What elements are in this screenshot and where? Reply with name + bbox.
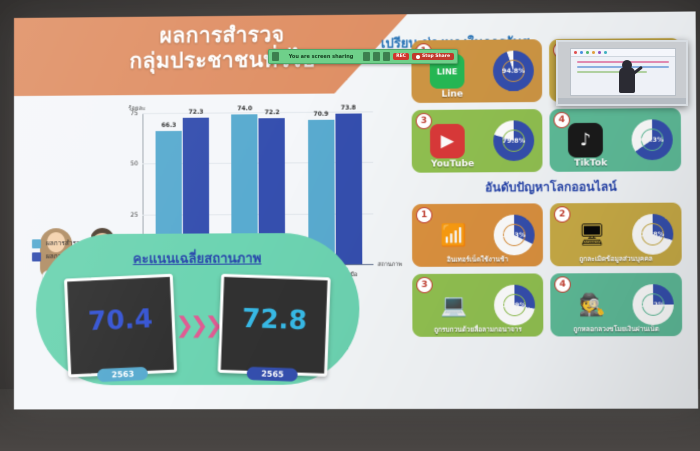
youtube-icon: ▶	[430, 124, 465, 159]
average-score-compare: 70.4 2563 ❯❯❯ 72.8 2565	[66, 277, 329, 373]
bar-value-label: 70.9	[314, 111, 329, 118]
donut-percent-label: 79.8%	[502, 137, 525, 145]
donut-percent-label: 65.3%	[641, 136, 664, 144]
people-illustration	[38, 113, 124, 226]
share-status-text: You are screen sharing	[282, 54, 360, 60]
donut-chart: 29.8%	[632, 214, 673, 255]
screen-share-toolbar[interactable]: You are screen sharing REC Stop Share	[268, 49, 458, 64]
channel-name: YouTube	[412, 159, 494, 170]
screen-root: ผลการสำรวจ กลุ่มประชาชนทั่วไป เปรียบ ช่อ…	[0, 0, 700, 451]
stop-share-label: Stop Share	[422, 54, 450, 59]
donut-chart: 27.9%	[494, 285, 535, 326]
rank-badge: 3	[416, 113, 432, 129]
donut-percent-label: 29.8%	[641, 230, 664, 238]
pip-browser-bar	[571, 49, 675, 57]
x-axis-unit: สถานภาพ	[378, 261, 402, 269]
bar-value-label: 74.0	[237, 105, 252, 112]
rank-badge: 4	[554, 112, 570, 128]
average-score-title: คะแนนเฉลี่ยสถานภาพ	[36, 247, 359, 270]
issue-label: ถูกหลอกลวงขโมยเงินผ่านเน็ต	[553, 324, 681, 335]
stop-share-button[interactable]: Stop Share	[412, 53, 454, 60]
score-panel-after: 72.8 2565	[217, 274, 330, 377]
mic-icon[interactable]	[363, 52, 370, 61]
issue-card-4[interactable]: 4🕵ถูกหลอกลวงขโมยเงินผ่านเน็ต25.2%	[550, 273, 682, 337]
donut-chart: 79.8%	[493, 120, 534, 161]
score-before-value: 70.4	[68, 303, 172, 338]
average-score-panel: คะแนนเฉลี่ยสถานภาพ 70.4 2563 ❯❯❯ 72.8 25…	[36, 233, 360, 386]
score-after-value: 72.8	[222, 303, 327, 337]
camera-icon[interactable]	[373, 52, 380, 61]
gridlines	[126, 103, 399, 105]
channel-card-tiktok[interactable]: 4♪TikTok65.3%	[549, 108, 681, 172]
rank-badge: 2	[554, 206, 570, 222]
donut-percent-label: 25.2%	[642, 300, 665, 308]
screen-icon	[272, 52, 279, 61]
bar-value-label: 66.3	[161, 121, 176, 128]
pip-projection-screen	[570, 48, 676, 96]
score-before-year: 2563	[97, 367, 148, 382]
donut-chart: 65.3%	[631, 119, 672, 160]
channel-name: TikTok	[550, 158, 632, 169]
issue-label: ถูกรบกวนด้วยสื่อลามกอนาจาร	[414, 324, 541, 335]
bar-value-label: 73.8	[341, 105, 356, 112]
issue-card-grid: 1📶อินเทอร์เน็ตใช้งานช้า32.3%2🖥ถูกละเมิดข…	[412, 203, 692, 337]
left-column: ร้อยละ 0255075 66.372.374.072.270.973.8 …	[22, 95, 407, 401]
stop-icon	[416, 55, 420, 59]
issue-card-2[interactable]: 2🖥ถูกละเมิดข้อมูลส่วนบุคคล29.8%	[550, 203, 682, 267]
wifi-signal-icon: 📶	[432, 218, 475, 253]
rank-badge: 4	[554, 276, 570, 292]
donut-percent-label: 94.8%	[502, 67, 525, 75]
donut-percent-label: 32.3%	[503, 231, 526, 239]
data-privacy-icon: 🖥	[570, 217, 613, 252]
y-tick-label: 75	[130, 110, 138, 117]
laptop-block-icon: 💻	[433, 288, 476, 323]
score-after-year: 2565	[246, 367, 297, 382]
presenter-webcam-overlay[interactable]	[556, 40, 688, 106]
title-line-1: ผลการสำรวจ	[56, 21, 389, 49]
donut-chart: 94.8%	[493, 50, 534, 91]
channel-card-youtube[interactable]: 3▶YouTube79.8%	[412, 109, 543, 173]
y-tick-label: 25	[130, 211, 138, 218]
issues-section-title: อันดับปัญหาโลกออนไลน์	[412, 177, 691, 198]
donut-chart: 32.3%	[494, 215, 535, 256]
y-tick-label: 50	[130, 161, 138, 168]
score-panel-before: 70.4 2563	[64, 274, 177, 378]
channel-name: Line	[412, 89, 494, 100]
bar-value-label: 72.3	[189, 109, 204, 116]
donut-chart: 25.2%	[632, 284, 673, 325]
issue-card-1[interactable]: 1📶อินเทอร์เน็ตใช้งานช้า32.3%	[412, 203, 543, 267]
hacker-money-icon: 🕵	[571, 287, 614, 322]
recording-badge[interactable]: REC	[393, 53, 409, 60]
rank-badge: 1	[416, 207, 432, 223]
pip-floor	[558, 98, 686, 104]
legend-swatch	[32, 239, 41, 248]
progress-arrow-icon: ❯❯❯	[175, 313, 219, 338]
y-axis-ticks: 0255075	[126, 103, 399, 105]
issue-label: ถูกละเมิดข้อมูลส่วนบุคคล	[552, 254, 680, 265]
donut-percent-label: 27.9%	[503, 301, 526, 309]
tiktok-icon: ♪	[568, 123, 603, 158]
participants-icon[interactable]	[383, 52, 390, 61]
bar-value-label: 72.2	[265, 109, 280, 116]
bar: 73.8	[335, 114, 362, 264]
issue-label: อินเทอร์เน็ตใช้งานช้า	[414, 254, 541, 265]
issue-card-3[interactable]: 3💻ถูกรบกวนด้วยสื่อลามกอนาจาร27.9%	[412, 273, 543, 336]
rank-badge: 3	[416, 277, 432, 293]
